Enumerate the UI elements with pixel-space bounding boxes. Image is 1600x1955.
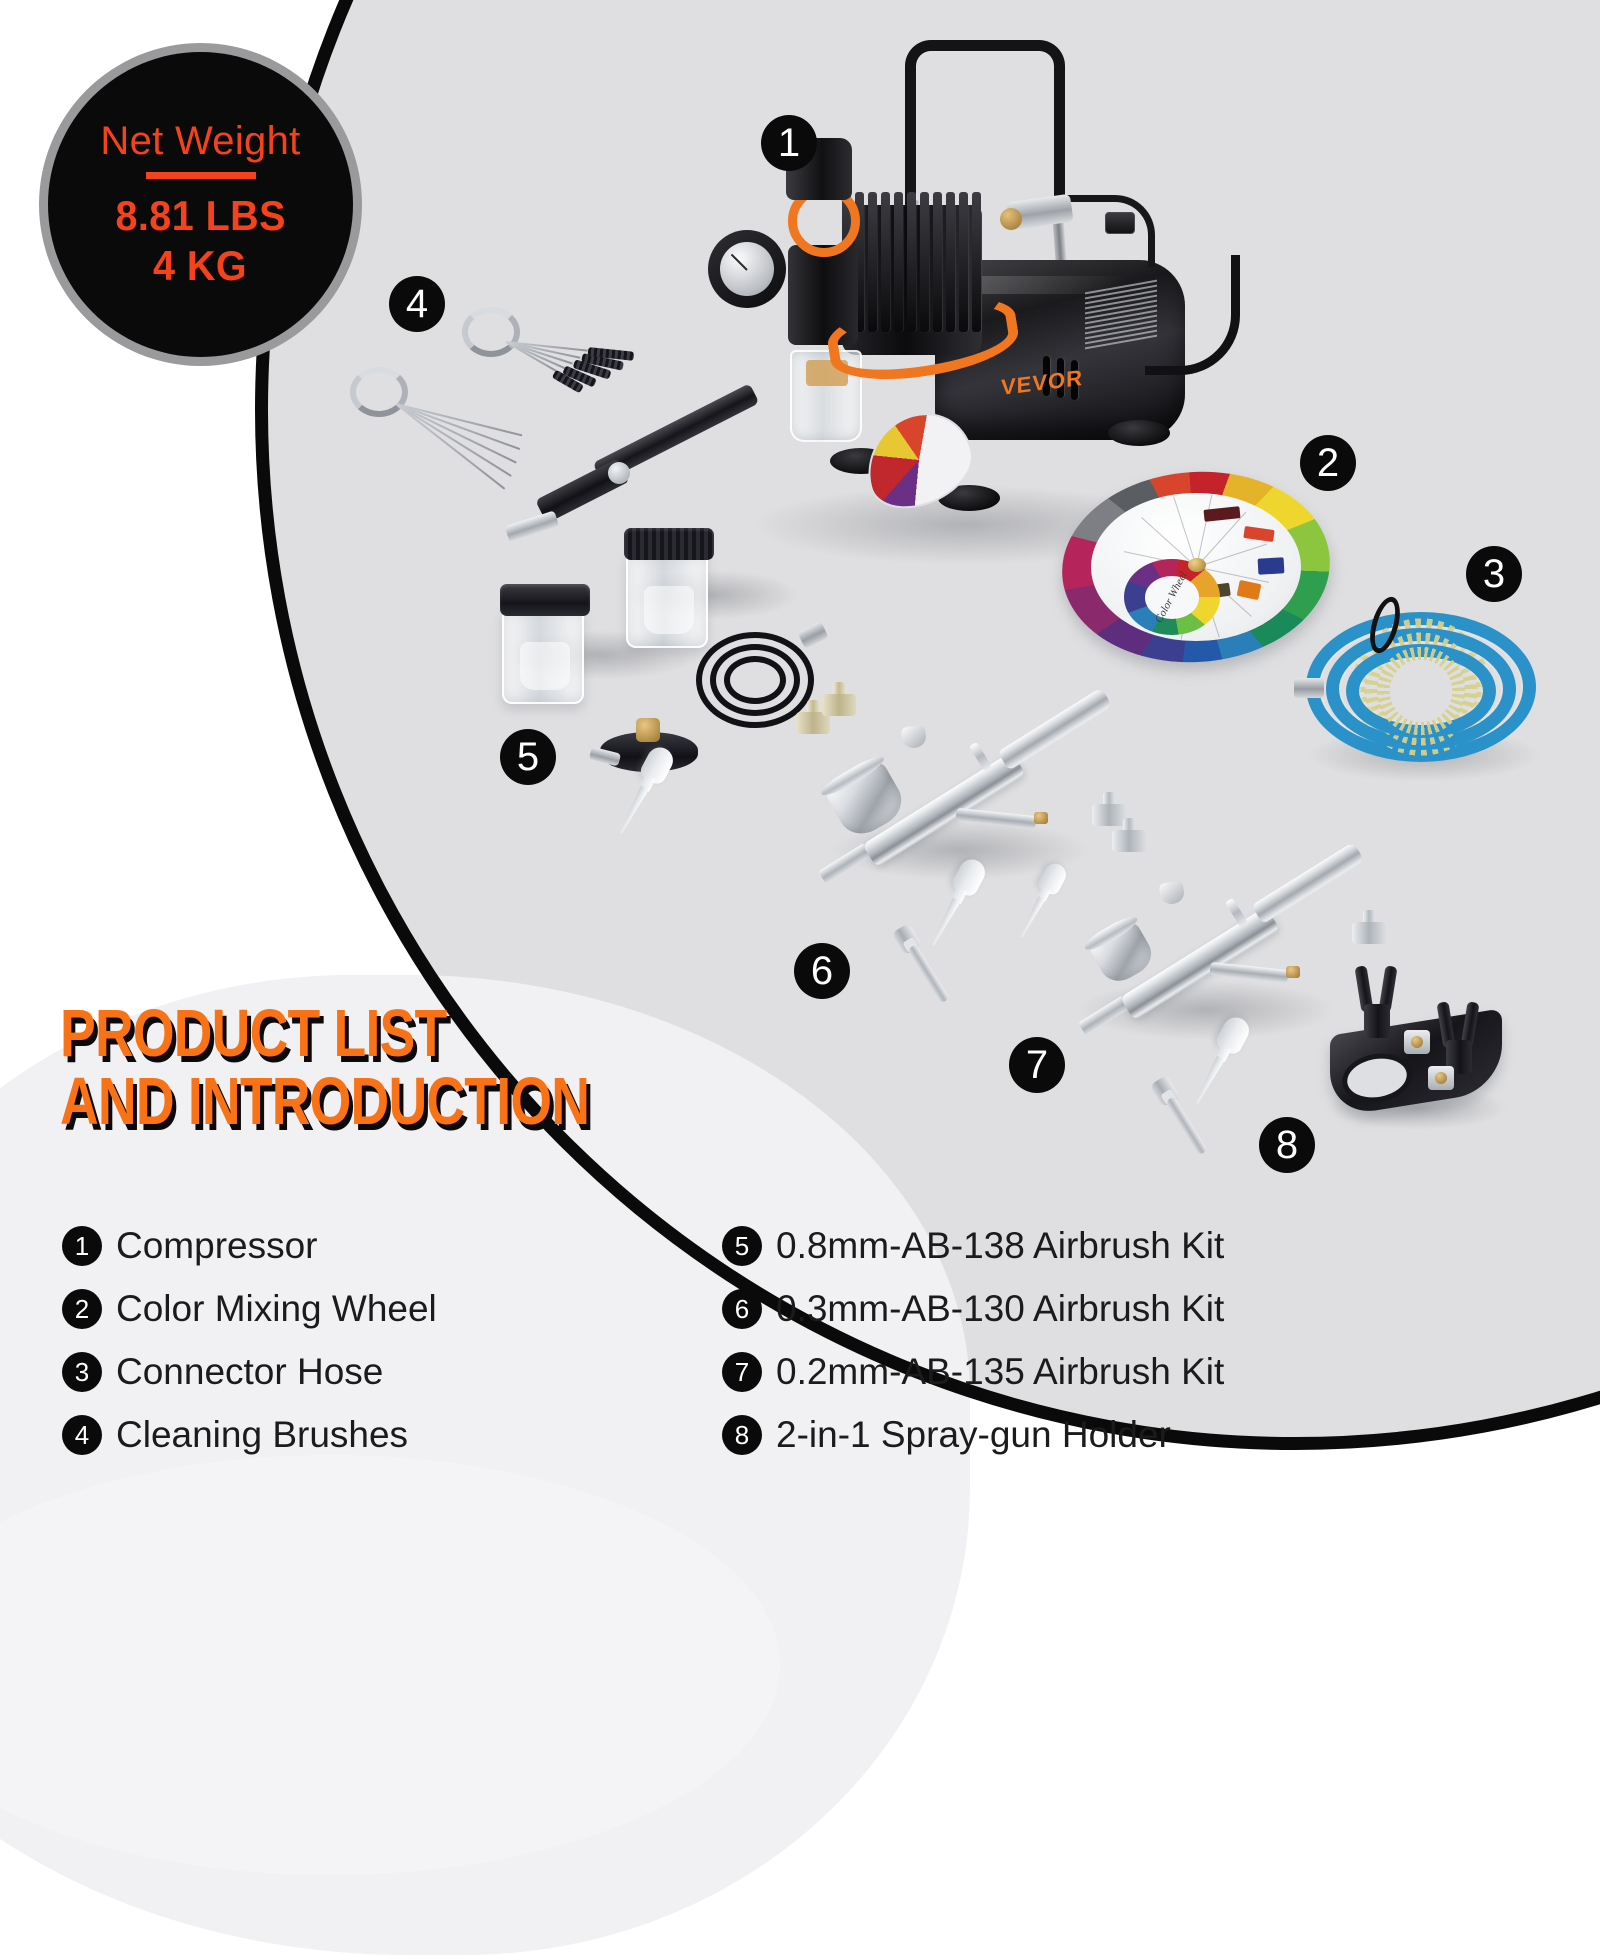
- compressor-handle: [905, 40, 1065, 215]
- hose-coil-inner: [1346, 644, 1496, 738]
- callout-badge-5: 5: [500, 729, 556, 785]
- legend-item-2: 2 Color Mixing Wheel: [62, 1288, 437, 1330]
- spare-jar-lid: [500, 584, 590, 616]
- compressor-pressure-gauge: [708, 230, 786, 308]
- compressor-power-switch[interactable]: [1105, 212, 1135, 234]
- callout-badge-2: 2: [1300, 435, 1356, 491]
- legend-number-4: 4: [62, 1415, 102, 1455]
- needle-set-keyring: [350, 367, 408, 417]
- legend-item-8: 8 2-in-1 Spray-gun Holder: [722, 1414, 1224, 1456]
- page-title: PRODUCT LIST AND INTRODUCTION: [60, 1000, 721, 1137]
- legend-item-5: 5 0.8mm-AB-138 Airbrush Kit: [722, 1225, 1224, 1267]
- paint-jar-lid: [624, 528, 714, 560]
- callout-badge-7: 7: [1009, 1037, 1065, 1093]
- paint-cup-rim: [1082, 912, 1141, 954]
- dropper-tip: [929, 898, 961, 948]
- product-connector-hose: [1300, 598, 1542, 783]
- ab138-trigger[interactable]: [608, 462, 630, 484]
- legend-item-1: 1 Compressor: [62, 1225, 437, 1267]
- net-weight-kg: 4 KG: [153, 241, 247, 291]
- product-spraygun-holder: [1318, 968, 1518, 1128]
- paint-jar-interior: [644, 586, 694, 634]
- color-wheel-swatch: [1258, 557, 1285, 574]
- ab135-air-inlet-brass: [1286, 966, 1300, 978]
- paint-cup-rim: [818, 752, 887, 800]
- callout-badge-1: 1: [761, 115, 817, 171]
- legend-item-7: 7 0.2mm-AB-135 Airbrush Kit: [722, 1351, 1224, 1393]
- net-weight-title: Net Weight: [100, 119, 300, 164]
- legend-number-1: 1: [62, 1226, 102, 1266]
- ab135-needle-housing: [1251, 842, 1364, 924]
- legend-number-7: 7: [722, 1352, 762, 1392]
- product-color-mixing-wheel: Color Wheel: [1062, 472, 1330, 662]
- net-weight-lbs: 8.81 LBS: [115, 191, 286, 241]
- compressor-foot: [1108, 420, 1170, 446]
- legend-item-3: 3 Connector Hose: [62, 1351, 437, 1393]
- ab130-trigger[interactable]: [901, 724, 928, 749]
- color-wheel-pivot: [1188, 558, 1206, 572]
- gauge-needle: [731, 254, 748, 271]
- adapter-base: [1352, 922, 1386, 944]
- ab130-needle-housing: [997, 687, 1112, 770]
- ab130-air-inlet-brass: [1034, 812, 1048, 824]
- siphon-lid-nut: [636, 718, 660, 742]
- dropper-tip: [1193, 1056, 1225, 1106]
- ab130-collar: [969, 742, 992, 771]
- ab135-steel-adapter-top: [1112, 818, 1146, 852]
- callout-badge-8: 8: [1259, 1117, 1315, 1173]
- legend-item-6: 6 0.3mm-AB-130 Airbrush Kit: [722, 1288, 1224, 1330]
- adapter-base: [1112, 830, 1146, 852]
- callout-badge-3: 3: [1466, 546, 1522, 602]
- page-title-line-2: AND INTRODUCTION: [60, 1068, 589, 1136]
- net-weight-badge: Net Weight 8.81 LBS 4 KG: [48, 52, 353, 357]
- legend-label-4: Cleaning Brushes: [116, 1414, 408, 1456]
- adapter-base: [822, 694, 856, 716]
- net-weight-divider: [146, 172, 256, 179]
- legend-column-left: 1 Compressor 2 Color Mixing Wheel 3 Conn…: [62, 1225, 437, 1456]
- holder-cradle-left: [1354, 968, 1400, 1038]
- legend-label-1: Compressor: [116, 1225, 318, 1267]
- black-hose-fitting: [797, 621, 828, 649]
- legend-number-3: 3: [62, 1352, 102, 1392]
- infographic-canvas: VEVOR: [0, 0, 1600, 1600]
- legend-number-5: 5: [722, 1226, 762, 1266]
- ab135-trigger[interactable]: [1159, 880, 1186, 905]
- hose-loop-inner: [724, 656, 786, 704]
- callout-badge-6: 6: [794, 943, 850, 999]
- ab138-nozzle: [505, 510, 560, 542]
- color-wheel-hub-disc: Color Wheel: [1124, 559, 1220, 635]
- legend-number-2: 2: [62, 1289, 102, 1329]
- legend-label-8: 2-in-1 Spray-gun Holder: [776, 1414, 1171, 1456]
- holder-screw-right: [1428, 1066, 1454, 1090]
- compressor-brass-fitting: [1000, 208, 1022, 230]
- color-wheel-label: Color Wheel: [1154, 570, 1190, 625]
- holder-cradle-right: [1436, 1004, 1482, 1074]
- legend-label-2: Color Mixing Wheel: [116, 1288, 437, 1330]
- ab130-brass-adapter: [822, 682, 856, 716]
- ab135-steel-adapter-right: [1352, 910, 1386, 944]
- callout-badge-4: 4: [389, 276, 445, 332]
- legend-label-6: 0.3mm-AB-130 Airbrush Kit: [776, 1288, 1224, 1330]
- legend-number-8: 8: [722, 1415, 762, 1455]
- siphon-lid-spout: [589, 747, 621, 767]
- hose-end-fitting: [1294, 678, 1324, 698]
- spare-paint-jar: [502, 608, 584, 704]
- legend-label-7: 0.2mm-AB-135 Airbrush Kit: [776, 1351, 1224, 1393]
- ab135-paint-cup: [1088, 920, 1159, 989]
- legend-label-3: Connector Hose: [116, 1351, 383, 1393]
- legend-number-6: 6: [722, 1289, 762, 1329]
- gauge-face: [720, 242, 774, 296]
- spare-jar-interior: [520, 642, 570, 690]
- page-title-line-1: PRODUCT LIST: [60, 1000, 589, 1068]
- legend-column-right: 5 0.8mm-AB-138 Airbrush Kit 6 0.3mm-AB-1…: [722, 1225, 1224, 1456]
- ab135-collar: [1225, 898, 1248, 927]
- cradle-post: [1364, 1004, 1390, 1038]
- legend-label-5: 0.8mm-AB-138 Airbrush Kit: [776, 1225, 1224, 1267]
- holder-screw-left: [1404, 1030, 1430, 1054]
- brush-set-keyring: [462, 307, 520, 357]
- legend-item-4: 4 Cleaning Brushes: [62, 1414, 437, 1456]
